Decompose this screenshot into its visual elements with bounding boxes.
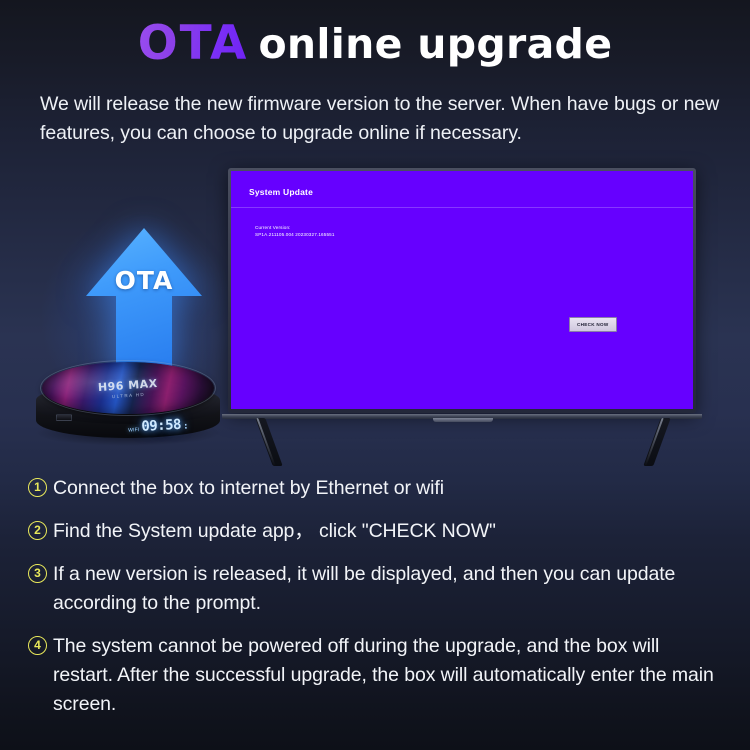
device-usb-port	[56, 414, 72, 421]
list-item: 2 Find the System update app， click "CHE…	[28, 517, 728, 546]
step-text: Connect the box to internet by Ethernet …	[53, 474, 444, 503]
wifi-icon: WIFI	[128, 427, 140, 434]
steps-list: 1 Connect the box to internet by Etherne…	[28, 474, 728, 733]
step-text: If a new version is released, it will be…	[53, 560, 721, 618]
tv-leg-right	[643, 418, 670, 466]
brand-name: H96 MAX	[98, 376, 159, 393]
brand-subtitle: ULTRA HD	[112, 391, 145, 398]
check-now-button[interactable]: CHECK NOW	[569, 317, 617, 332]
clock-separator: :	[183, 421, 189, 431]
list-item: 1 Connect the box to internet by Etherne…	[28, 474, 728, 503]
title-highlight: OTA	[138, 16, 249, 71]
tv-illustration: System Update Current Version: SP1A.2111…	[228, 168, 698, 458]
screen-divider	[231, 207, 693, 208]
tv-leg-left	[255, 418, 282, 466]
title-rest: online upgrade	[258, 20, 612, 68]
current-version-label: Current Version:	[255, 225, 291, 230]
list-item: 3 If a new version is released, it will …	[28, 560, 728, 618]
tv-body: System Update Current Version: SP1A.2111…	[228, 168, 696, 413]
current-version-value: SP1A.211105.004 20230327.165551	[255, 232, 335, 237]
tv-box-device: H96 MAX ULTRA HD	[28, 358, 228, 450]
system-update-title: System Update	[249, 187, 313, 197]
clock-time: 09:58	[141, 417, 181, 435]
list-item: 4 The system cannot be powered off durin…	[28, 632, 728, 719]
device-clock-display: WIFI 09:58 :	[128, 416, 189, 435]
page-root: OTAonline upgrade We will release the ne…	[0, 0, 750, 750]
step-text: Find the System update app， click "CHECK…	[53, 517, 496, 546]
step-number: 3	[28, 564, 47, 583]
page-title: OTAonline upgrade	[0, 16, 750, 71]
tv-screen: System Update Current Version: SP1A.2111…	[231, 171, 693, 409]
step-text: The system cannot be powered off during …	[53, 632, 721, 719]
arrow-label: OTA	[84, 266, 204, 295]
tv-center-nub	[433, 418, 493, 422]
step-number: 1	[28, 478, 47, 497]
step-number: 4	[28, 636, 47, 655]
step-number: 2	[28, 521, 47, 540]
intro-paragraph: We will release the new firmware version…	[40, 90, 720, 148]
